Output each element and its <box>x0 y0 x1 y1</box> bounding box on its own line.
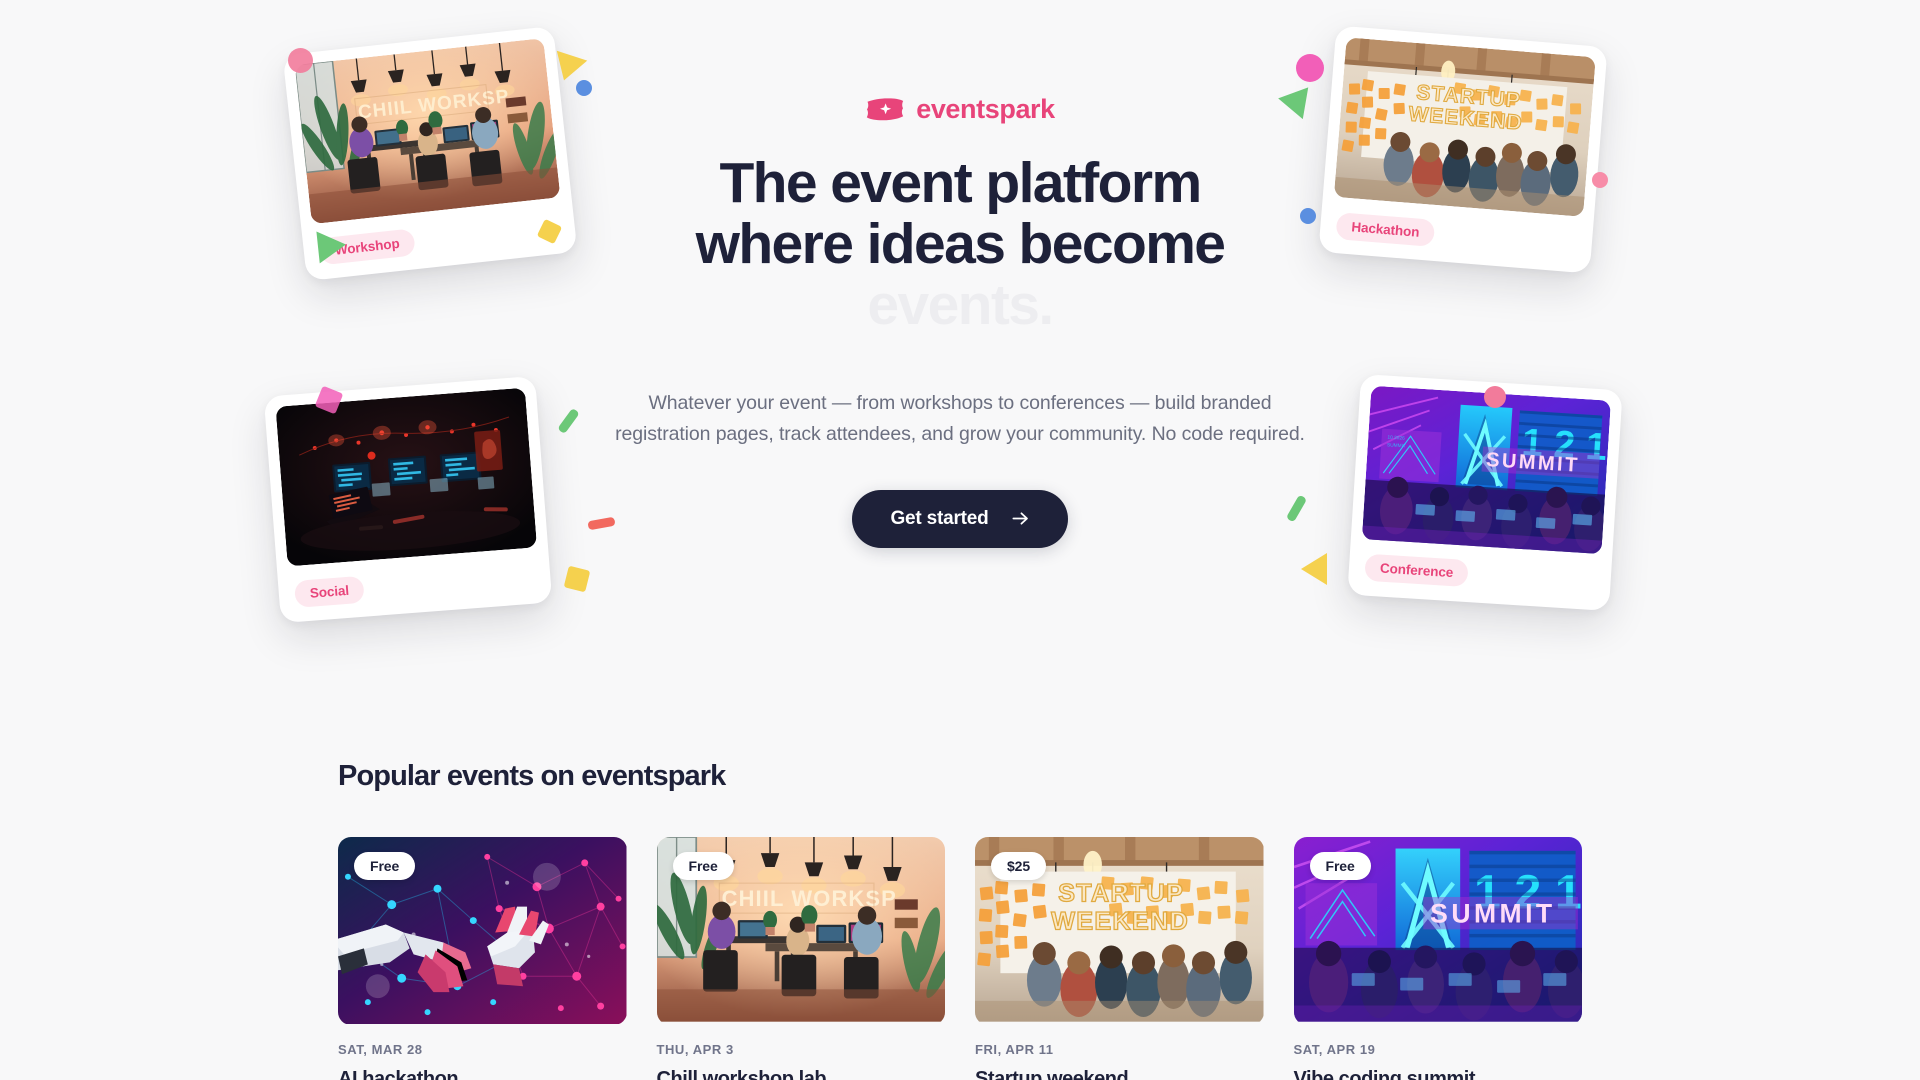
hero-cta-wrap: Get started <box>580 490 1340 548</box>
category-pill: Hackathon <box>1335 212 1435 247</box>
event-date: SAT, MAR 28 <box>338 1042 627 1057</box>
event-thumbnail: Free <box>338 837 627 1025</box>
event-date: FRI, APR 11 <box>975 1042 1264 1057</box>
headline-line-3: events. <box>580 275 1340 336</box>
category-pill: Social <box>294 575 365 607</box>
event-title: Startup weekend <box>975 1066 1264 1080</box>
event-thumbnail: Free <box>1294 837 1583 1025</box>
headline-line-1: The event platform <box>719 151 1200 215</box>
event-title: Chill workshop lab <box>657 1066 946 1080</box>
headline-line-2: where ideas become <box>696 212 1225 276</box>
get-started-label: Get started <box>890 508 988 530</box>
event-card[interactable]: Free <box>338 837 627 1080</box>
arrow-right-icon <box>1011 509 1030 528</box>
price-badge: Free <box>1310 852 1371 880</box>
svg-text:10 2026: 10 2026 <box>1387 435 1405 442</box>
get-started-button[interactable]: Get started <box>852 490 1067 548</box>
brand-logo[interactable]: eventspark <box>580 96 1340 123</box>
event-date: SAT, APR 19 <box>1294 1042 1583 1057</box>
svg-text:STARTUP: STARTUP <box>1058 880 1184 908</box>
floating-card-hackathon[interactable]: STARTUP WEEKEND Hackathon <box>1318 25 1607 273</box>
floating-card-conference[interactable]: 10 2026SUMMIT 1 2 1 SUMMIT <box>1347 374 1622 611</box>
floating-card-workshop[interactable]: CHIIL WORKSP <box>283 26 578 281</box>
floating-card-social[interactable]: Social <box>264 376 553 623</box>
confetti-square-yellow-lowerleft <box>564 566 591 593</box>
event-thumbnail: Free <box>657 837 946 1025</box>
confetti-triangle-yellow-lowerright <box>1301 553 1327 585</box>
dark-neon-lounge-photo <box>276 388 538 567</box>
section-title: Popular events on eventspark <box>338 760 1582 793</box>
chill-workspace-photo: CHIIL WORKSP <box>295 38 561 224</box>
price-badge: Free <box>354 852 415 880</box>
event-thumbnail: $25 <box>975 837 1264 1025</box>
hero-headline: The event platform where ideas become ev… <box>580 153 1340 336</box>
neon-summit-photo: 10 2026SUMMIT 1 2 1 SUMMIT <box>1362 386 1611 554</box>
event-title: Vibe coding summit <box>1294 1066 1583 1080</box>
confetti-dot-pink-right <box>1296 54 1324 82</box>
floating-card-thumb: CHIIL WORKSP <box>295 38 561 224</box>
floating-card-thumb <box>276 388 538 567</box>
popular-events-section: Popular events on eventspark Free <box>0 760 1920 1080</box>
floating-card-thumb: STARTUP WEEKEND <box>1334 37 1596 217</box>
confetti-dot-blue-left <box>576 80 592 96</box>
event-card[interactable]: Free <box>1294 837 1583 1080</box>
event-title: AI hackathon <box>338 1066 627 1080</box>
price-badge: Free <box>673 852 734 880</box>
svg-text:WEEKEND: WEEKEND <box>1051 907 1189 935</box>
hero-content: eventspark The event platform where idea… <box>580 96 1340 548</box>
category-pill: Workshop <box>318 228 415 265</box>
event-grid: Free <box>338 837 1582 1080</box>
svg-text:SUMMIT: SUMMIT <box>1387 442 1406 449</box>
floating-card-thumb: 10 2026SUMMIT 1 2 1 SUMMIT <box>1362 386 1611 554</box>
startup-weekend-photo: STARTUP WEEKEND <box>1334 37 1596 217</box>
event-card[interactable]: $25 <box>975 837 1264 1080</box>
ticket-sparkle-icon <box>865 96 905 123</box>
svg-text:SUMMIT: SUMMIT <box>1430 898 1555 928</box>
price-badge: $25 <box>991 852 1046 880</box>
event-date: THU, APR 3 <box>657 1042 946 1057</box>
hero-section: CHIIL WORKSP <box>0 0 1920 760</box>
category-pill: Conference <box>1364 554 1469 587</box>
event-card[interactable]: Free <box>657 837 946 1080</box>
hero-subtitle: Whatever your event — from workshops to … <box>580 388 1340 450</box>
confetti-bar-green-lowerleft <box>557 408 580 434</box>
brand-name: eventspark <box>916 96 1055 123</box>
